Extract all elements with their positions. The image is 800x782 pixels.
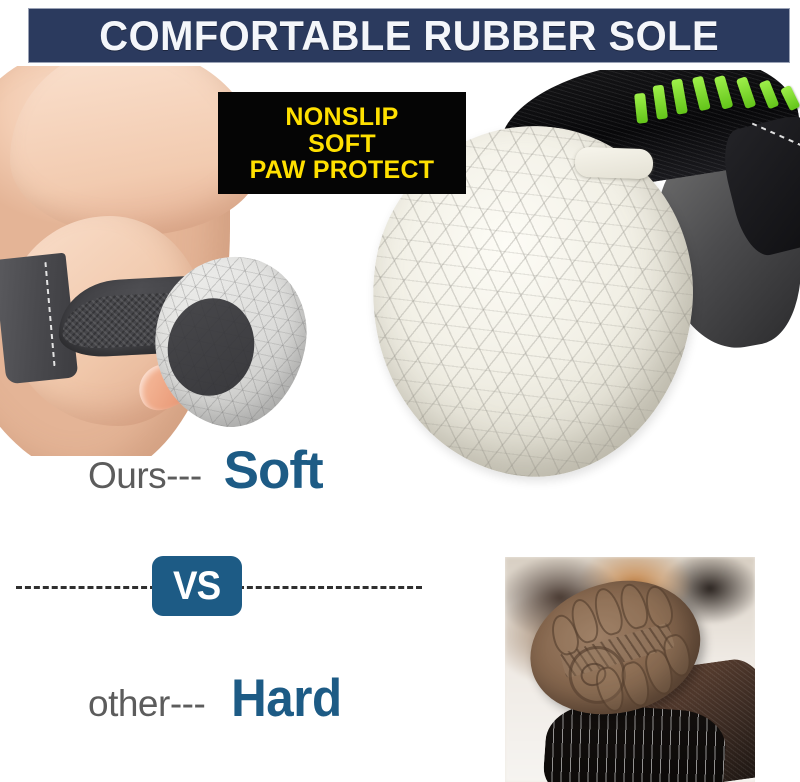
ours-value-soft: Soft (224, 440, 323, 501)
product-feature-image: COMFORTABLE RUBBER SOLE (0, 0, 800, 782)
ours-label: Ours--- (88, 455, 202, 497)
other-label: other--- (88, 683, 205, 725)
vs-badge-label: VS (173, 566, 220, 606)
vs-badge: VS (152, 556, 242, 616)
callout-line-2: SOFT (308, 131, 376, 158)
comparison-row-ours: Ours--- Soft (88, 440, 323, 501)
sole-heel-tab (575, 147, 654, 180)
header-banner: COMFORTABLE RUBBER SOLE (28, 8, 790, 63)
vs-divider-left (16, 586, 156, 589)
nonslip-callout: NONSLIP SOFT PAW PROTECT (218, 92, 466, 194)
vs-divider-right (238, 586, 422, 589)
callout-line-1: NONSLIP (285, 104, 398, 131)
other-value-hard: Hard (231, 668, 341, 729)
brown-hard-sole-photo (505, 557, 755, 782)
callout-line-3: PAW PROTECT (250, 157, 435, 184)
page-title: COMFORTABLE RUBBER SOLE (99, 12, 719, 60)
comparison-row-other: other--- Hard (88, 668, 346, 729)
